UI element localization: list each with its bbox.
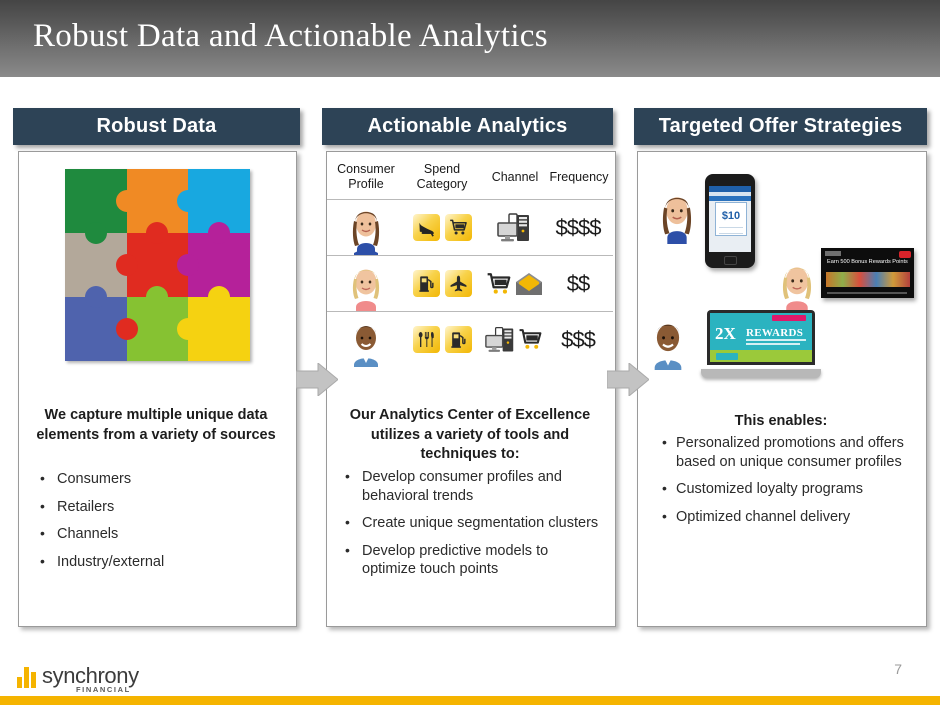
table-row: $$ [327,256,613,312]
phone-home-button [724,256,737,265]
bullet-list-actionable-analytics: Develop consumer profiles and behavioral… [343,468,605,588]
lede-robust-data: We capture multiple unique data elements… [30,406,282,445]
channel-icons [483,312,545,367]
list-item: Consumers [38,470,278,489]
column-header-label: Robust Data [97,115,217,138]
puzzle-knob [85,222,107,244]
mastercard-mark-icon [899,251,911,258]
bullet-list-targeted-offers: Personalized promotions and offers based… [660,434,908,535]
lede-actionable-analytics: Our Analytics Center of Excellence utili… [336,406,604,465]
phone-offer-amount: $10 [716,203,746,222]
utensils-icon [413,326,440,353]
targeted-profile-photo-1 [655,186,699,249]
puzzle-svg [65,169,250,361]
puzzle-knob [177,254,199,276]
puzzle-knob [85,286,107,308]
laptop-badge [772,315,806,321]
column-header-targeted-offer-strategies: Targeted Offer Strategies [634,108,927,145]
page-number: 7 [894,661,902,677]
list-item: Develop consumer profiles and behavioral… [343,468,605,505]
man-photo-icon [346,313,386,367]
offer-table-col-channel: Channel [485,170,545,185]
bottom-accent-rule [0,696,940,705]
synchrony-logo: synchrony FINANCIAL [17,663,147,695]
older-woman-photo-icon [775,254,819,312]
offer-table-header-row: Consumer Profile Spend Category Channel … [327,157,613,200]
list-item: Create unique segmentation clusters [343,514,605,533]
laptop-offer-number: 2X [715,325,736,342]
gas-pump-icon [445,326,472,353]
logo-bars-icon [17,667,38,688]
puzzle-knob [177,190,199,212]
offer-table-col-frequency: Frequency [546,170,612,185]
desktop-computer-icon [485,326,515,354]
mailer-logo [825,251,841,256]
young-woman-photo-icon [346,201,386,255]
column-header-actionable-analytics: Actionable Analytics [322,108,613,145]
channel-icons [483,256,545,311]
puzzle-diagram: Transactions Location SKU/ Category Cons… [65,169,250,361]
frequency-value: $$$ [545,312,611,367]
consumer-profile-photo [331,256,401,311]
list-item: Customized loyalty programs [660,480,908,499]
table-row: $$$ [327,312,613,367]
laptop-offer-word: REWARDS [746,327,803,339]
laptop-offer-device: 2X REWARDS [701,310,821,378]
puzzle-knob [146,222,168,244]
puzzle-knob [208,222,230,244]
column-header-label: Actionable Analytics [368,115,568,138]
frequency-value: $$ [545,256,611,311]
lede-targeted-offers: This enables: [650,412,912,432]
offer-table-col-consumer-profile: Consumer Profile [330,162,402,192]
airplane-icon [445,270,472,297]
puzzle-knob [116,190,138,212]
puzzle-knob [146,286,168,308]
spend-category-icons [403,312,481,367]
man-photo-icon [645,310,691,370]
open-envelope-icon [515,272,543,296]
list-item: Channels [38,525,278,544]
channel-icons [483,200,545,255]
older-woman-photo-icon [346,257,386,311]
puzzle-knob [116,318,138,340]
column-header-label: Targeted Offer Strategies [659,115,903,138]
laptop-base [701,369,821,378]
desktop-computer-icon [497,213,531,243]
puzzle-knob [116,254,138,276]
young-woman-photo-icon [655,186,699,244]
column-header-robust-data: Robust Data [13,108,300,145]
offer-table: Consumer Profile Spend Category Channel … [327,157,613,367]
high-heel-icon [413,214,440,241]
mailer-product-strip [826,272,910,287]
bullet-list-robust-data: ConsumersRetailersChannelsIndustry/exter… [38,470,278,580]
phone-screen: $10 [709,186,751,252]
consumer-profile-photo [331,312,401,367]
list-item: Optimized channel delivery [660,508,908,527]
list-item: Industry/external [38,553,278,572]
table-row: $$$$ [327,200,613,256]
phone-coupon: $10 [715,202,747,236]
list-item: Personalized promotions and offers based… [660,434,908,471]
page-title: Robust Data and Actionable Analytics [33,18,548,55]
puzzle-knob [177,318,199,340]
mailer-offer-text: Earn 500 Bonus Rewards Points [827,259,909,266]
flow-arrow-icon [607,363,649,396]
shopping-cart-icon [517,327,544,352]
list-item: Develop predictive models to optimize to… [343,542,605,579]
direct-mail-offer: Earn 500 Bonus Rewards Points [821,248,914,298]
shopping-cart-icon [445,214,472,241]
targeted-profile-photo-2 [775,254,819,317]
targeted-profile-photo-3 [645,310,691,375]
offer-table-col-spend-category: Spend Category [403,162,481,192]
shopping-cart-icon [485,271,513,297]
consumer-profile-photo [331,200,401,255]
flow-arrow-icon [296,363,338,396]
slide-title-bar: Robust Data and Actionable Analytics [0,0,940,77]
laptop-screen: 2X REWARDS [710,313,812,362]
smartphone-offer-device: $10 [705,174,755,268]
frequency-value: $$$$ [545,200,611,255]
list-item: Retailers [38,498,278,517]
logo-subtitle: FINANCIAL [76,685,131,694]
gas-pump-icon [413,270,440,297]
laptop-lid: 2X REWARDS [707,310,815,365]
mailer-fineprint [827,292,907,294]
spend-category-icons [403,256,481,311]
spend-category-icons [403,200,481,255]
puzzle-knob [208,286,230,308]
